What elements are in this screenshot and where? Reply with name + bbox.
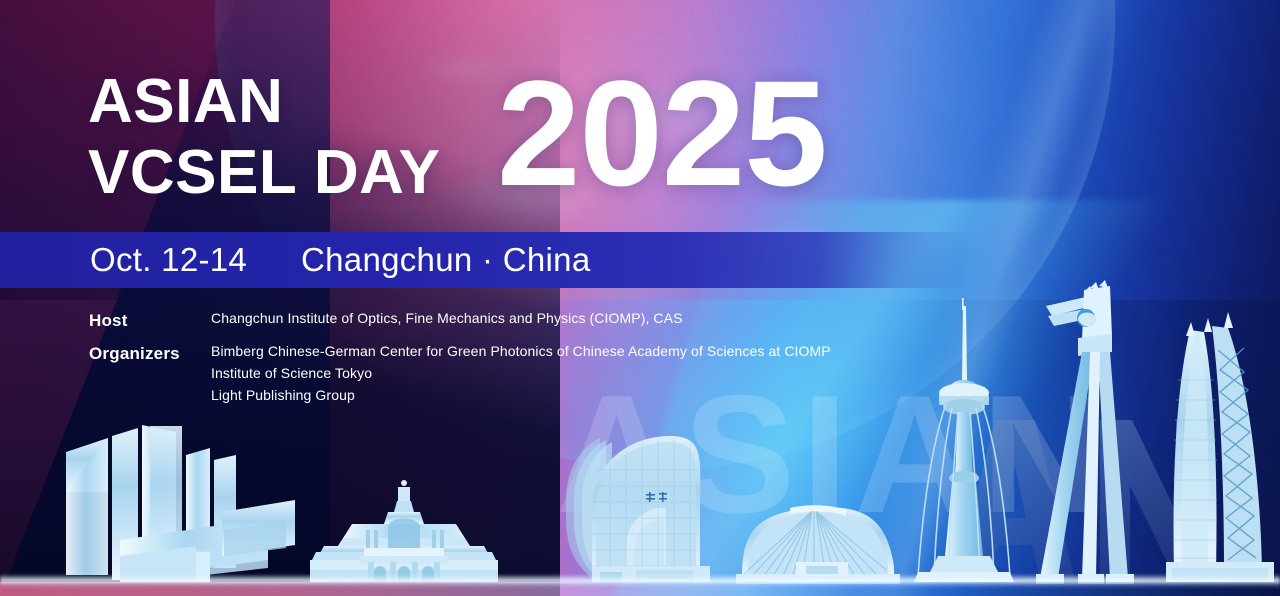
event-date: Oct. 12-14: [90, 241, 247, 278]
host-label: Host: [89, 308, 211, 334]
credit-row-organizers: Organizers Bimberg Chinese-German Center…: [89, 341, 831, 406]
organizer-value: Light Publishing Group: [211, 385, 831, 407]
host-value: Changchun Institute of Optics, Fine Mech…: [211, 308, 683, 330]
conference-banner: ASIAN: [0, 0, 1280, 596]
curved-skyscraper: [1166, 312, 1274, 582]
organizers-values: Bimberg Chinese-German Center for Green …: [211, 341, 831, 406]
credits-block: Host Changchun Institute of Optics, Fine…: [89, 308, 831, 406]
host-values: Changchun Institute of Optics, Fine Mech…: [211, 308, 683, 330]
organizers-label: Organizers: [89, 341, 211, 367]
title-line-2: VCSEL DAY: [88, 143, 441, 204]
ring-tower-building: [566, 436, 710, 582]
organizer-value: Bimberg Chinese-German Center for Green …: [211, 341, 831, 363]
event-location: Changchun · China: [301, 241, 590, 278]
credit-row-host: Host Changchun Institute of Optics, Fine…: [89, 308, 831, 334]
angular-modern-building: [66, 425, 295, 582]
date-location-text: Oct. 12-14 Changchun · China: [90, 241, 590, 279]
event-title: ASIAN VCSEL DAY: [88, 72, 441, 204]
event-year: 2025: [497, 58, 827, 208]
title-line-1: ASIAN: [88, 72, 441, 133]
organizer-value: Institute of Science Tokyo: [211, 363, 831, 385]
domed-classical-building: [310, 480, 498, 582]
fan-shell-stadium: [736, 505, 900, 584]
ground-glow-line: [0, 574, 1280, 588]
